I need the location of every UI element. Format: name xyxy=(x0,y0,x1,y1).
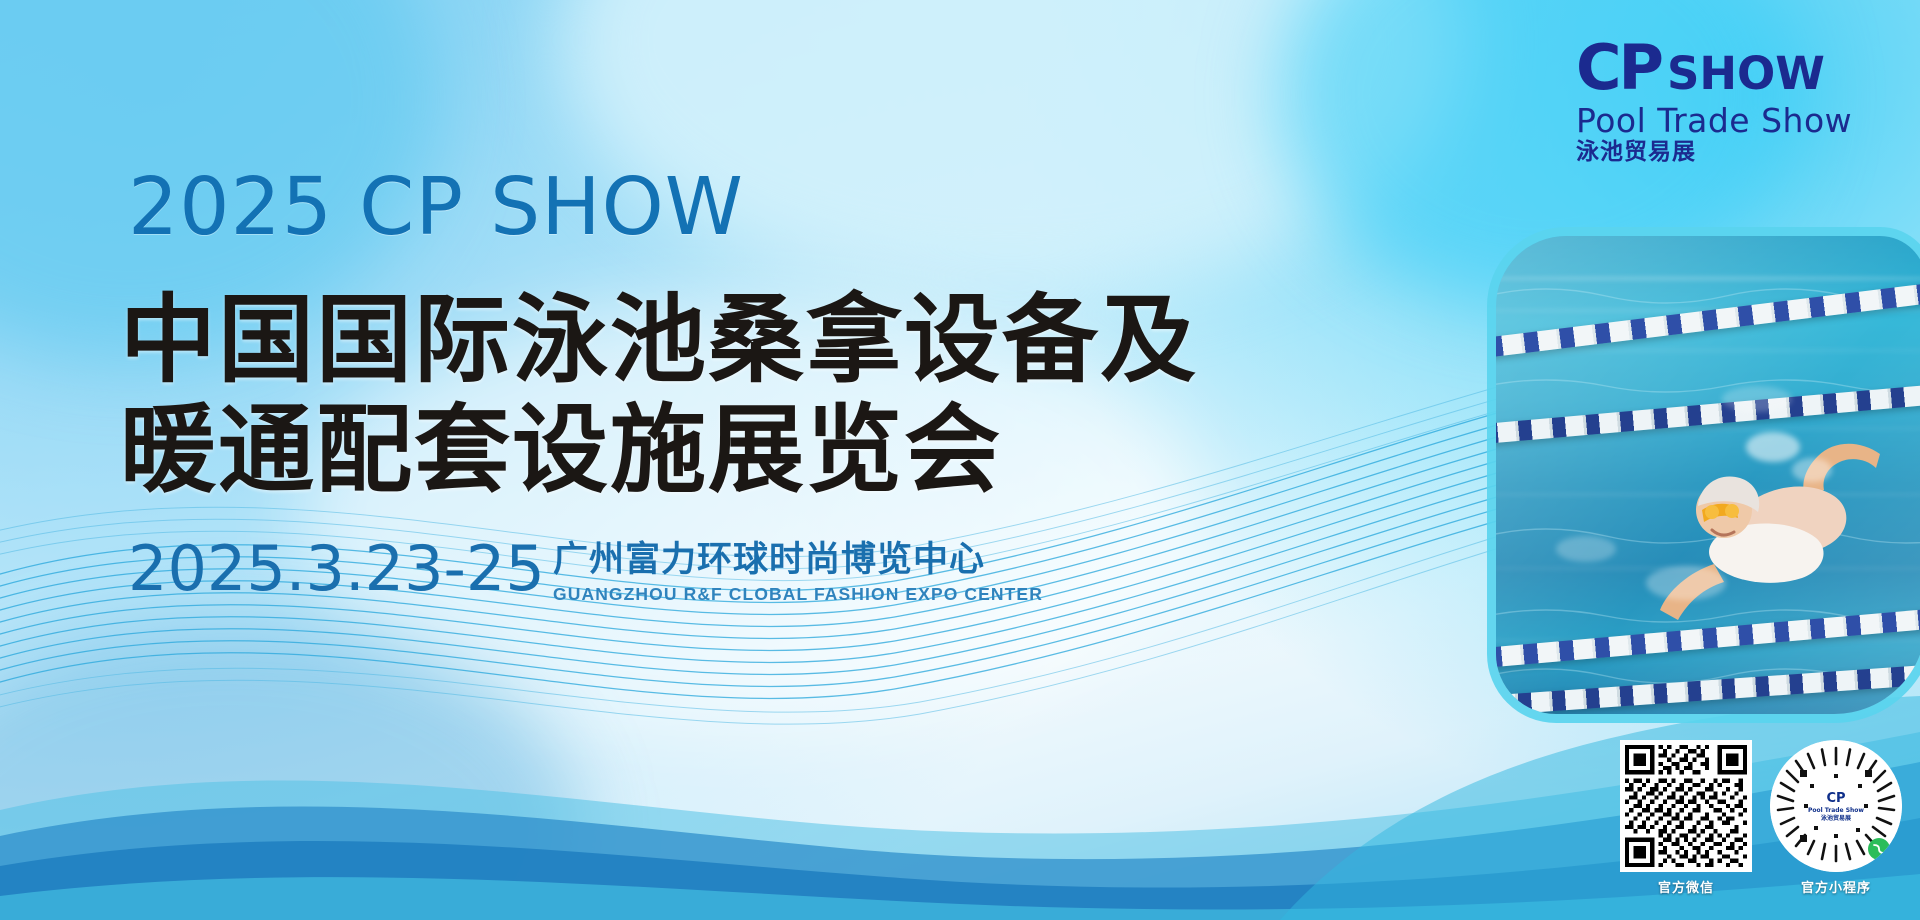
headline-chinese-line1: 中国国际泳池桑拿设备及 xyxy=(120,290,1198,392)
qr-item-wechat[interactable]: 官方微信 xyxy=(1620,740,1752,896)
venue-name-english: GUANGZHOU R&F CLOBAL FASHION EXPO CENTER xyxy=(553,584,1043,605)
event-date: 2025.3.23-25 xyxy=(128,538,545,600)
swimmer-photo xyxy=(1496,236,1920,714)
logo-mark-cp: CP xyxy=(1576,31,1661,104)
logo-mark-show: SHOW xyxy=(1667,47,1825,100)
qr-inner-cp: CP xyxy=(1826,791,1845,806)
venue-name-chinese: 广州富力环球时尚博览中心 xyxy=(553,540,1043,581)
swimmer-photo-panel xyxy=(1496,236,1920,714)
background-blob-top xyxy=(560,0,1460,300)
background-blob-bottom xyxy=(0,620,580,920)
promotional-banner: CPSHOW Pool Trade Show 泳池贸易展 xyxy=(0,0,1920,920)
water-splash xyxy=(1746,432,1800,462)
qr-caption-miniprogram: 官方小程序 xyxy=(1801,877,1871,896)
water-splash xyxy=(1646,566,1726,600)
logo-tagline-cn: 泳池贸易展 xyxy=(1576,140,1906,165)
qr-caption-wechat: 官方微信 xyxy=(1658,877,1714,896)
water-splash xyxy=(1722,386,1792,412)
qr-inner-sub: Pool Trade Show xyxy=(1808,807,1864,814)
venue-block: 广州富力环球时尚博览中心 GUANGZHOU R&F CLOBAL FASHIO… xyxy=(553,540,1043,605)
logo-tagline-en: Pool Trade Show xyxy=(1576,103,1906,139)
water-splash xyxy=(1556,536,1616,562)
qr-inner-cn: 泳池贸易展 xyxy=(1821,814,1851,822)
qr-code-block: 官方微信 xyxy=(1620,740,1902,896)
logo-wordmark: CPSHOW xyxy=(1576,38,1906,99)
qr-code-icon[interactable] xyxy=(1620,740,1752,872)
cp-show-logo: CPSHOW Pool Trade Show 泳池贸易展 xyxy=(1576,38,1906,165)
qr-round-icon[interactable]: CP Pool Trade Show 泳池贸易展 xyxy=(1770,740,1902,872)
headline-english: 2025 CP SHOW xyxy=(128,168,744,247)
qr-item-miniprogram[interactable]: CP Pool Trade Show 泳池贸易展 官方小程序 xyxy=(1770,740,1902,896)
water-splash xyxy=(1792,458,1832,482)
headline-chinese-line2: 暖通配套设施展览会 xyxy=(120,400,1002,502)
